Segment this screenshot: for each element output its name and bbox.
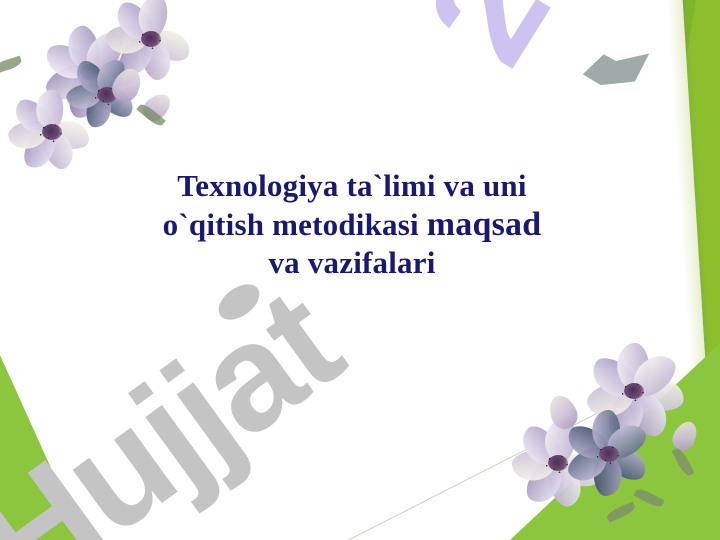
presentation-slide: 24 Hujjat [0,0,720,540]
blossom [566,411,652,497]
floral-decoration-bottom-right [488,325,718,540]
title-line-1: Texnologiya ta`limi va uni [62,168,642,205]
title-line-3: va vazifalari [62,245,642,282]
title-line-2: o`qitish metodikasi maqsad [62,205,642,245]
title-line-2-part-1: o`qitish metodikasi [163,207,427,242]
leaf [605,501,636,522]
floral-decoration-top-left [0,0,216,192]
slide-title: Texnologiya ta`limi va uni o`qitish meto… [62,168,642,281]
leaf [0,56,23,75]
title-line-2-part-2: maqsad [427,206,542,243]
